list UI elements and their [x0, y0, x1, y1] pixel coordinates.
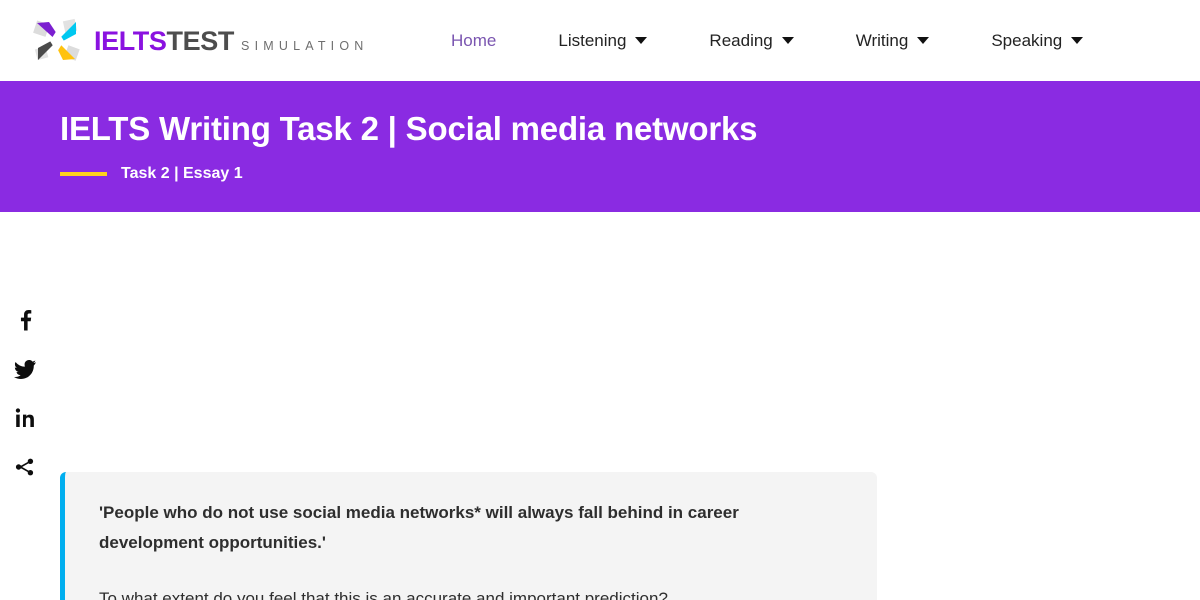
wordmark-test: TEST [167, 26, 234, 56]
nav-item-label: Speaking [991, 31, 1062, 51]
site-header: IELTSTEST SIMULATION Home Listening Read… [0, 0, 1200, 81]
brand-wordmark: IELTSTEST SIMULATION [94, 26, 369, 55]
share-icon[interactable] [10, 452, 40, 482]
page-banner: IELTS Writing Task 2 | Social media netw… [0, 81, 1200, 212]
nav-item-label: Writing [856, 31, 909, 51]
brand-logo-link[interactable]: IELTSTEST SIMULATION [30, 14, 369, 68]
chevron-down-icon [917, 37, 929, 44]
wordmark-ielts: IELTS [94, 26, 167, 56]
nav-item-writing[interactable]: Writing [825, 31, 961, 51]
nav-item-listening[interactable]: Listening [527, 31, 678, 51]
nav-item-reading[interactable]: Reading [678, 31, 824, 51]
prompt-quote-text: 'People who do not use social media netw… [99, 498, 814, 559]
wordmark-tagline: SIMULATION [241, 39, 368, 53]
chevron-down-icon [1071, 37, 1083, 44]
main-navigation: Home Listening Reading Writing Speaking [420, 0, 1114, 81]
essay-prompt-card: 'People who do not use social media netw… [60, 472, 877, 600]
page-subtitle: Task 2 | Essay 1 [121, 165, 243, 183]
prompt-question-text: To what extent do you feel that this is … [99, 585, 843, 600]
subtitle-dash [60, 172, 107, 176]
chevron-down-icon [782, 37, 794, 44]
social-share-rail [10, 305, 40, 482]
facebook-icon[interactable] [10, 305, 40, 335]
nav-item-label: Reading [709, 31, 772, 51]
nav-item-home[interactable]: Home [420, 31, 527, 51]
nav-item-speaking[interactable]: Speaking [960, 31, 1114, 51]
page-subtitle-group: Task 2 | Essay 1 [60, 165, 1200, 183]
linkedin-icon[interactable] [10, 403, 40, 433]
nav-item-label: Home [451, 31, 496, 51]
twitter-icon[interactable] [10, 354, 40, 384]
page-title: IELTS Writing Task 2 | Social media netw… [60, 111, 1200, 147]
pinwheel-star-logo-icon [30, 14, 84, 68]
nav-item-label: Listening [558, 31, 626, 51]
chevron-down-icon [635, 37, 647, 44]
